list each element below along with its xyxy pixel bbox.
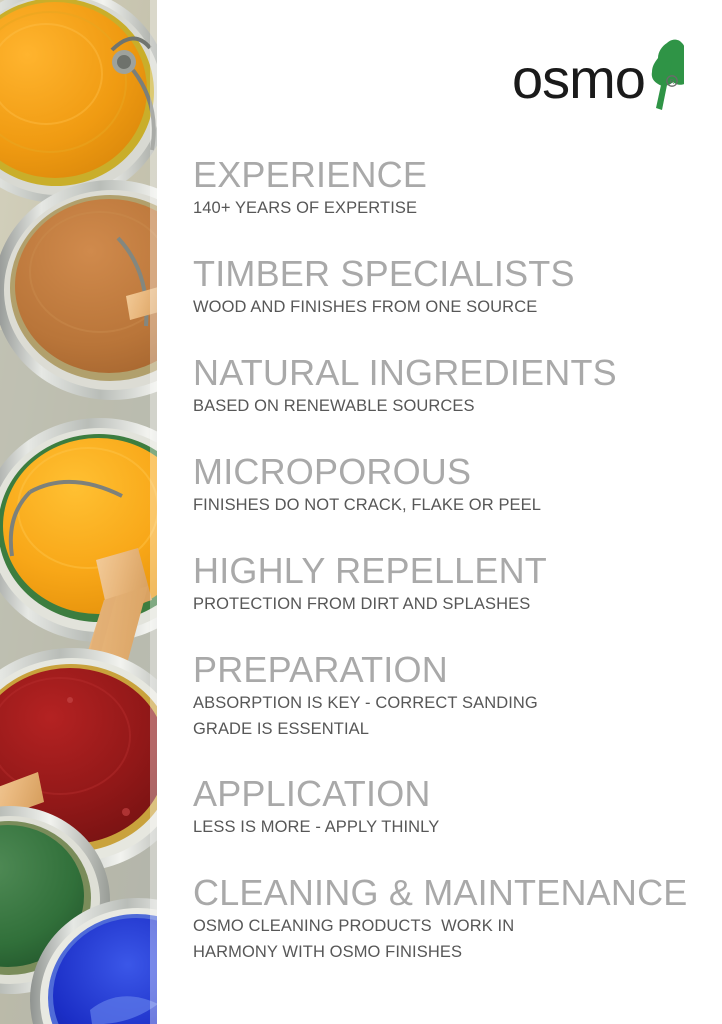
section-subtitle-line: BASED ON RENEWABLE SOURCES xyxy=(193,394,693,419)
section-subtitle-line: OSMO CLEANING PRODUCTS WORK IN xyxy=(193,914,693,939)
osmo-logo-svg: osmo R xyxy=(512,36,684,114)
feature-section-application: APPLICATION LESS IS MORE - APPLY THINLY xyxy=(193,774,693,840)
feature-section-highly-repellent: HIGHLY REPELLENT PROTECTION FROM DIRT AN… xyxy=(193,551,693,617)
section-subtitle-line: WOOD AND FINISHES FROM ONE SOURCE xyxy=(193,295,693,320)
paint-cans-illustration xyxy=(0,0,157,1024)
section-heading: CLEANING & MAINTENANCE xyxy=(193,873,693,913)
section-spacer xyxy=(193,518,693,551)
section-subtitle-line: ABSORPTION IS KEY - CORRECT SANDING xyxy=(193,691,693,716)
section-heading: HIGHLY REPELLENT xyxy=(193,551,693,591)
section-subtitle-line: PROTECTION FROM DIRT AND SPLASHES xyxy=(193,592,693,617)
feature-section-natural-ingredients: NATURAL INGREDIENTS BASED ON RENEWABLE S… xyxy=(193,353,693,419)
section-heading: MICROPOROUS xyxy=(193,452,693,492)
section-subtitle-line: GRADE IS ESSENTIAL xyxy=(193,717,693,742)
section-heading: TIMBER SPECIALISTS xyxy=(193,254,693,294)
registered-trademark-glyph: R xyxy=(670,79,675,86)
section-subtitle-line: FINISHES DO NOT CRACK, FLAKE OR PEEL xyxy=(193,493,693,518)
section-spacer xyxy=(193,840,693,873)
section-subtitle-line: HARMONY WITH OSMO FINISHES xyxy=(193,940,693,965)
orange-paint-can-group xyxy=(0,0,157,203)
section-heading: APPLICATION xyxy=(193,774,693,814)
paint-cans-photo-strip xyxy=(0,0,157,1024)
section-spacer xyxy=(193,221,693,254)
pine-tree-icon xyxy=(652,40,684,110)
section-spacer xyxy=(193,617,693,650)
poster-page: osmo R EXPERIENCE 140+ YEARS OF EXPERTIS… xyxy=(0,0,722,1024)
section-spacer xyxy=(193,419,693,452)
section-subtitle-line: 140+ YEARS OF EXPERTISE xyxy=(193,196,693,221)
section-subtitle-line: LESS IS MORE - APPLY THINLY xyxy=(193,815,693,840)
section-spacer xyxy=(193,742,693,774)
feature-section-experience: EXPERIENCE 140+ YEARS OF EXPERTISE xyxy=(193,155,693,221)
section-heading: PREPARATION xyxy=(193,650,693,690)
feature-section-cleaning-maintenance: CLEANING & MAINTENANCE OSMO CLEANING PRO… xyxy=(193,873,693,965)
feature-section-timber-specialists: TIMBER SPECIALISTS WOOD AND FINISHES FRO… xyxy=(193,254,693,320)
section-spacer xyxy=(193,320,693,353)
osmo-wordmark-text: osmo xyxy=(512,47,645,110)
feature-list: EXPERIENCE 140+ YEARS OF EXPERTISE TIMBE… xyxy=(193,155,693,965)
section-heading: NATURAL INGREDIENTS xyxy=(193,353,693,393)
osmo-logo[interactable]: osmo R xyxy=(512,36,684,114)
section-heading: EXPERIENCE xyxy=(193,155,693,195)
feature-section-preparation: PREPARATION ABSORPTION IS KEY - CORRECT … xyxy=(193,650,693,742)
feature-section-microporous: MICROPOROUS FINISHES DO NOT CRACK, FLAKE… xyxy=(193,452,693,518)
